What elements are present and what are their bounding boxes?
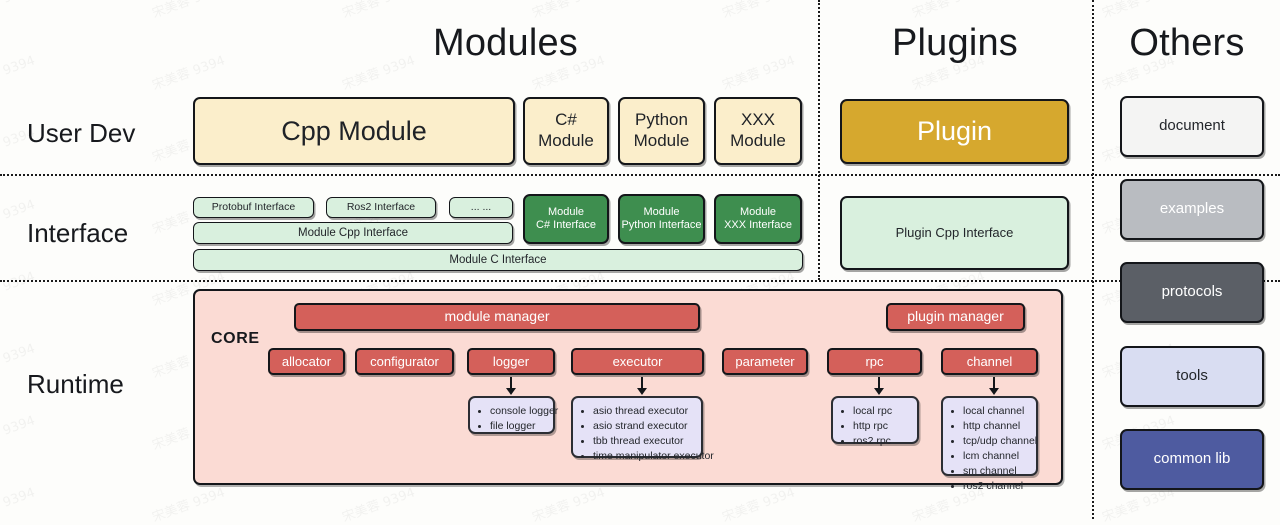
module-manager-box[interactable]: module manager <box>294 303 700 331</box>
column-title-plugins: Plugins <box>820 22 1090 65</box>
interface-box-ellipsis[interactable]: ... ... <box>449 197 513 218</box>
component-channel-label: channel <box>967 354 1013 370</box>
interface-box-csharp[interactable]: Module C# Interface <box>523 194 609 244</box>
row-label-interface: Interface <box>27 218 128 249</box>
module-box-csharp-line1: C# <box>555 110 577 131</box>
component-channel[interactable]: channel <box>941 348 1038 375</box>
component-logger[interactable]: logger <box>467 348 555 375</box>
interface-box-python-line1: Module <box>643 206 679 219</box>
sublist-item: tcp/udp channel <box>963 434 1028 449</box>
watermark-text: 宋美蓉 9394 <box>529 0 607 21</box>
watermark-text: 宋美蓉 9394 <box>0 0 37 21</box>
component-configurator[interactable]: configurator <box>355 348 454 375</box>
sublist-item: console logger <box>490 404 545 419</box>
watermark-text: 宋美蓉 9394 <box>1099 0 1177 21</box>
interface-box-plugin-cpp[interactable]: Plugin Cpp Interface <box>840 196 1069 270</box>
plugin-manager-label: plugin manager <box>907 308 1004 325</box>
sublist-item: lcm channel <box>963 449 1028 464</box>
sublist-item: file logger <box>490 419 545 434</box>
interface-box-csharp-line2: C# Interface <box>536 219 596 232</box>
column-title-others: Others <box>1094 22 1280 65</box>
sublist-executor-items: asio thread executorasio strand executor… <box>579 404 693 464</box>
divider-interface-runtime <box>0 280 1280 282</box>
watermark-text: 宋美蓉 9394 <box>149 0 227 21</box>
sublist-logger-items: console loggerfile logger <box>476 404 545 434</box>
watermark-text: 宋美蓉 9394 <box>339 0 417 21</box>
component-executor-label: executor <box>613 354 663 370</box>
component-allocator-label: allocator <box>282 354 331 370</box>
interface-box-ros2[interactable]: Ros2 Interface <box>326 197 436 218</box>
interface-box-protobuf[interactable]: Protobuf Interface <box>193 197 314 218</box>
module-box-xxx-line1: XXX <box>741 110 775 131</box>
sublist-item: local channel <box>963 404 1028 419</box>
sublist-rpc-items: local rpchttp rpcros2 rpc <box>839 404 909 449</box>
module-manager-label: module manager <box>444 308 549 325</box>
module-box-cpp[interactable]: Cpp Module <box>193 97 515 165</box>
others-box-examples-label: examples <box>1160 200 1224 218</box>
interface-box-xxx-line1: Module <box>740 206 776 219</box>
watermark-text: 宋美蓉 9394 <box>719 482 797 525</box>
watermark-text: 宋美蓉 9394 <box>0 482 37 525</box>
watermark-text: 宋美蓉 9394 <box>719 0 797 21</box>
interface-box-xxx[interactable]: Module XXX Interface <box>714 194 802 244</box>
core-label: CORE <box>211 330 260 348</box>
arrow-channel <box>989 377 999 395</box>
component-rpc[interactable]: rpc <box>827 348 922 375</box>
sublist-item: tbb thread executor <box>593 434 693 449</box>
divider-plugins-others <box>1092 0 1094 519</box>
arrow-executor <box>637 377 647 395</box>
sublist-item: ros2 channel <box>963 479 1028 494</box>
interface-box-module-cpp[interactable]: Module Cpp Interface <box>193 222 513 244</box>
watermark-text: 宋美蓉 9394 <box>0 266 37 310</box>
sublist-executor: asio thread executorasio strand executor… <box>571 396 703 458</box>
divider-userdev-interface <box>0 174 1280 176</box>
others-box-document[interactable]: document <box>1120 96 1264 157</box>
arrow-logger <box>506 377 516 395</box>
watermark-text: 宋美蓉 9394 <box>909 0 987 21</box>
interface-box-ros2-label: Ros2 Interface <box>347 201 415 214</box>
others-box-common-lib-label: common lib <box>1154 450 1231 468</box>
plugin-box[interactable]: Plugin <box>840 99 1069 164</box>
interface-box-module-cpp-label: Module Cpp Interface <box>298 226 408 240</box>
module-box-python-line1: Python <box>635 110 688 131</box>
sublist-item: sm channel <box>963 464 1028 479</box>
component-executor[interactable]: executor <box>571 348 704 375</box>
watermark-text: 宋美蓉 9394 <box>0 410 37 454</box>
watermark-text: 宋美蓉 9394 <box>339 482 417 525</box>
interface-box-python[interactable]: Module Python Interface <box>618 194 705 244</box>
module-box-csharp[interactable]: C# Module <box>523 97 609 165</box>
others-box-protocols-label: protocols <box>1162 283 1223 301</box>
component-parameter[interactable]: parameter <box>722 348 808 375</box>
column-title-modules: Modules <box>193 22 818 65</box>
others-box-common-lib[interactable]: common lib <box>1120 429 1264 490</box>
sublist-item: http rpc <box>853 419 909 434</box>
arrow-rpc <box>874 377 884 395</box>
module-box-python-line2: Module <box>634 131 690 152</box>
module-box-python[interactable]: Python Module <box>618 97 705 165</box>
sublist-logger: console loggerfile logger <box>468 396 555 434</box>
others-box-tools-label: tools <box>1176 367 1208 385</box>
interface-box-plugin-cpp-label: Plugin Cpp Interface <box>896 225 1014 241</box>
others-box-tools[interactable]: tools <box>1120 346 1264 407</box>
sublist-item: http channel <box>963 419 1028 434</box>
row-label-runtime: Runtime <box>27 369 124 400</box>
interface-box-module-c-label: Module C Interface <box>449 253 546 267</box>
others-box-document-label: document <box>1159 117 1225 135</box>
watermark-text: 宋美蓉 9394 <box>0 50 37 94</box>
sublist-rpc: local rpchttp rpcros2 rpc <box>831 396 919 444</box>
watermark-text: 宋美蓉 9394 <box>149 482 227 525</box>
plugin-manager-box[interactable]: plugin manager <box>886 303 1025 331</box>
plugin-box-label: Plugin <box>917 115 992 148</box>
sublist-channel: local channelhttp channeltcp/udp channel… <box>941 396 1038 476</box>
others-box-examples[interactable]: examples <box>1120 179 1264 240</box>
sublist-item: asio strand executor <box>593 419 693 434</box>
module-box-xxx[interactable]: XXX Module <box>714 97 802 165</box>
sublist-item: ros2 rpc <box>853 434 909 449</box>
sublist-item: asio thread executor <box>593 404 693 419</box>
others-box-protocols[interactable]: protocols <box>1120 262 1264 323</box>
component-logger-label: logger <box>493 354 529 370</box>
component-parameter-label: parameter <box>735 354 794 370</box>
interface-box-csharp-line1: Module <box>548 206 584 219</box>
interface-box-protobuf-label: Protobuf Interface <box>212 201 295 214</box>
component-rpc-label: rpc <box>865 354 883 370</box>
sublist-item: time manipulator executor <box>593 449 693 464</box>
component-allocator[interactable]: allocator <box>268 348 345 375</box>
row-label-user-dev: User Dev <box>27 118 135 149</box>
module-box-cpp-label: Cpp Module <box>281 115 427 148</box>
sublist-channel-items: local channelhttp channeltcp/udp channel… <box>949 404 1028 493</box>
module-box-xxx-line2: Module <box>730 131 786 152</box>
watermark-text: 宋美蓉 9394 <box>529 482 607 525</box>
interface-box-module-c[interactable]: Module C Interface <box>193 249 803 271</box>
component-configurator-label: configurator <box>370 354 439 370</box>
sublist-item: local rpc <box>853 404 909 419</box>
interface-box-ellipsis-label: ... ... <box>471 201 491 214</box>
module-box-csharp-line2: Module <box>538 131 594 152</box>
architecture-diagram: 宋美蓉 9394宋美蓉 9394宋美蓉 9394宋美蓉 9394宋美蓉 9394… <box>0 0 1280 519</box>
interface-box-xxx-line2: XXX Interface <box>724 219 792 232</box>
interface-box-python-line2: Python Interface <box>621 219 701 232</box>
